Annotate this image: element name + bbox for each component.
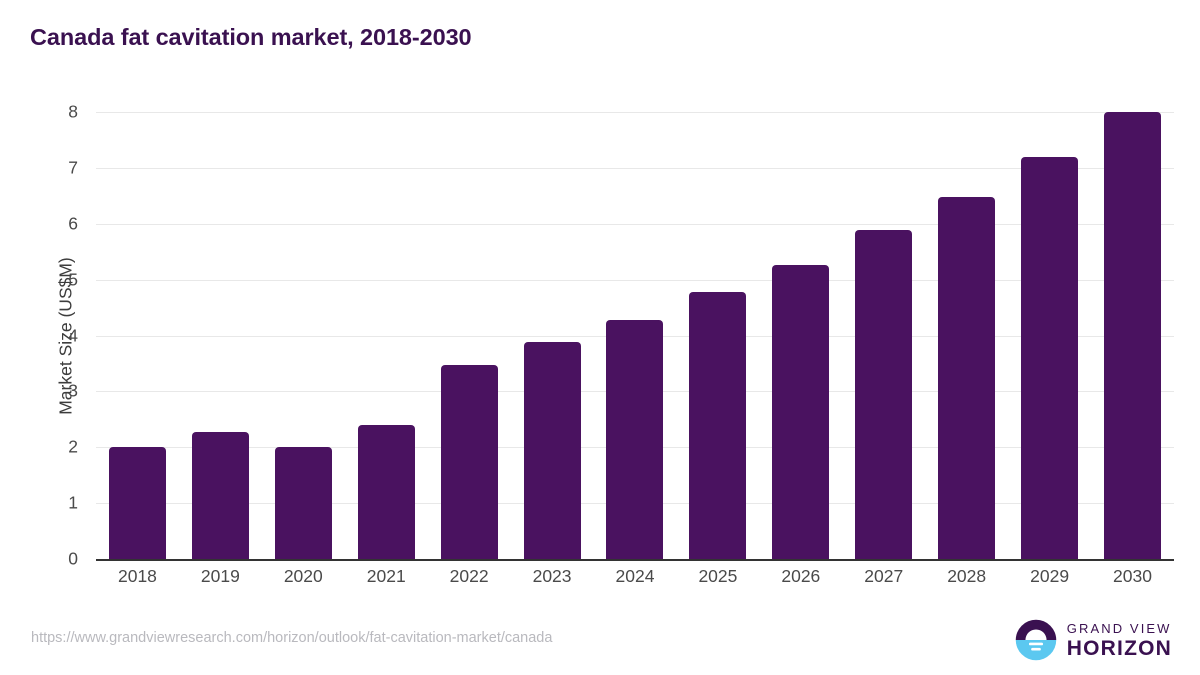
bar-slot-2020 xyxy=(262,112,345,559)
x-axis-tick-labels: 2018201920202021202220232024202520262027… xyxy=(96,566,1174,596)
page-title: Canada fat cavitation market, 2018-2030 xyxy=(30,24,472,51)
y-axis-tick-labels: 012345678 xyxy=(0,112,96,559)
source-url[interactable]: https://www.grandviewresearch.com/horizo… xyxy=(31,630,552,646)
x-tick-label-2022: 2022 xyxy=(428,566,511,596)
bar-2022[interactable] xyxy=(441,365,498,559)
bar-slot-2023 xyxy=(511,112,594,559)
x-tick-label-2018: 2018 xyxy=(96,566,179,596)
bar-slot-2028 xyxy=(925,112,1008,559)
y-tick-label-6: 6 xyxy=(68,213,78,234)
y-tick-label-2: 2 xyxy=(68,437,78,458)
x-tick-label-2029: 2029 xyxy=(1008,566,1091,596)
bar-2024[interactable] xyxy=(606,320,663,559)
bar-slot-2024 xyxy=(594,112,677,559)
chart-page: Canada fat cavitation market, 2018-2030 … xyxy=(0,0,1200,675)
x-tick-label-2019: 2019 xyxy=(179,566,262,596)
x-tick-label-2021: 2021 xyxy=(345,566,428,596)
bar-2030[interactable] xyxy=(1104,112,1161,559)
x-tick-label-2025: 2025 xyxy=(676,566,759,596)
bar-slot-2021 xyxy=(345,112,428,559)
x-tick-label-2028: 2028 xyxy=(925,566,1008,596)
bar-slot-2019 xyxy=(179,112,262,559)
y-tick-label-8: 8 xyxy=(68,102,78,123)
bar-2018[interactable] xyxy=(109,447,166,559)
bar-slot-2018 xyxy=(96,112,179,559)
bar-slot-2030 xyxy=(1091,112,1174,559)
plot-area xyxy=(96,112,1174,559)
bar-slot-2029 xyxy=(1008,112,1091,559)
bar-slot-2022 xyxy=(428,112,511,559)
y-tick-label-4: 4 xyxy=(68,325,78,346)
logo-wordmark: GRAND VIEW HORIZON xyxy=(1067,622,1172,659)
y-tick-label-7: 7 xyxy=(68,157,78,178)
bar-2023[interactable] xyxy=(524,342,581,559)
x-tick-label-2020: 2020 xyxy=(262,566,345,596)
y-tick-label-0: 0 xyxy=(68,549,78,570)
x-tick-label-2027: 2027 xyxy=(842,566,925,596)
bar-2026[interactable] xyxy=(772,265,829,559)
logo-text-horizon: HORIZON xyxy=(1067,638,1172,659)
bar-2019[interactable] xyxy=(192,432,249,559)
x-tick-label-2030: 2030 xyxy=(1091,566,1174,596)
y-tick-label-1: 1 xyxy=(68,493,78,514)
bar-2025[interactable] xyxy=(689,292,746,559)
bars-layer xyxy=(96,112,1174,559)
x-tick-label-2023: 2023 xyxy=(511,566,594,596)
bar-2021[interactable] xyxy=(358,425,415,559)
y-tick-label-3: 3 xyxy=(68,381,78,402)
bar-2027[interactable] xyxy=(855,230,912,559)
bar-2020[interactable] xyxy=(275,447,332,559)
horizon-logo-icon xyxy=(1014,618,1058,662)
x-tick-label-2026: 2026 xyxy=(759,566,842,596)
bar-slot-2027 xyxy=(842,112,925,559)
grand-view-horizon-logo[interactable]: GRAND VIEW HORIZON xyxy=(1014,618,1172,662)
x-tick-label-2024: 2024 xyxy=(594,566,677,596)
y-tick-label-5: 5 xyxy=(68,269,78,290)
bar-2029[interactable] xyxy=(1021,157,1078,559)
bar-slot-2026 xyxy=(759,112,842,559)
logo-text-grand-view: GRAND VIEW xyxy=(1067,622,1172,635)
gridline-0 xyxy=(96,559,1174,561)
bar-slot-2025 xyxy=(676,112,759,559)
bar-2028[interactable] xyxy=(938,197,995,559)
